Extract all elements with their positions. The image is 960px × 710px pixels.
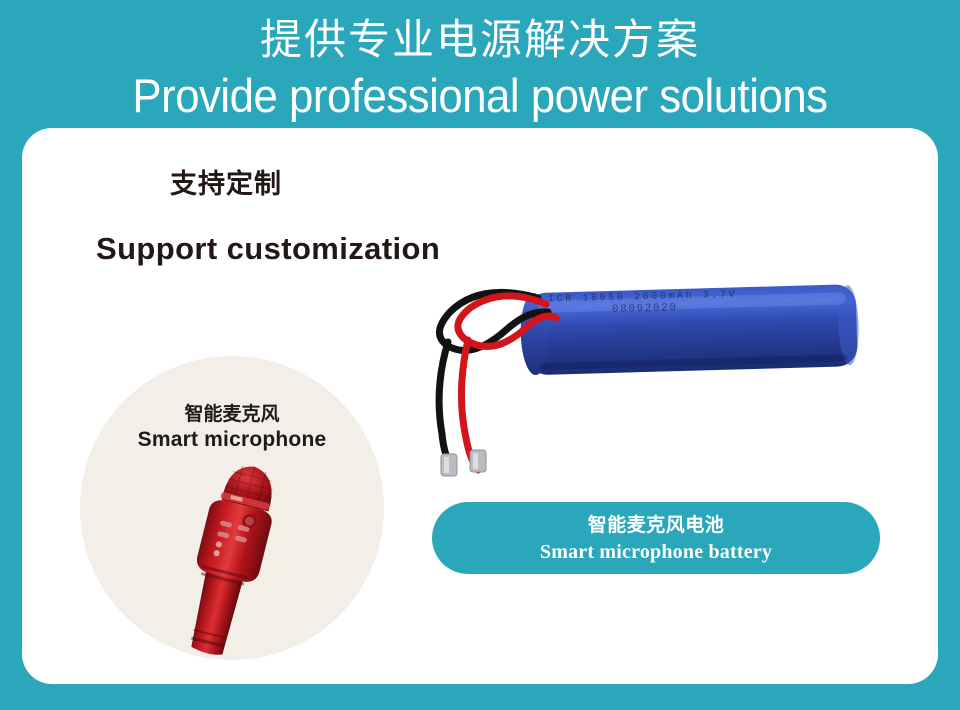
battery-caption-chinese: 智能麦克风电池 [432,512,880,538]
slide-canvas: 提供专业电源解决方案 Provide professional power so… [0,0,960,710]
microphone-product-icon [152,458,312,658]
support-customization-english: Support customization [96,228,440,270]
microphone-label-chinese: 智能麦克风 [80,402,384,426]
battery-caption-english: Smart microphone battery [432,538,880,566]
battery-caption-pill: 智能麦克风电池 Smart microphone battery [432,502,880,574]
microphone-label-english: Smart microphone [80,426,384,454]
support-customization-chinese: 支持定制 [170,168,282,202]
header-title-english: Provide professional power solutions [34,68,927,124]
microphone-badge-circle: 智能麦克风 Smart microphone [80,356,384,660]
header-band: 提供专业电源解决方案 Provide professional power so… [0,0,960,128]
battery-label-line-2: 08092020 [612,302,678,316]
header-title-chinese: 提供专业电源解决方案 [0,14,960,66]
